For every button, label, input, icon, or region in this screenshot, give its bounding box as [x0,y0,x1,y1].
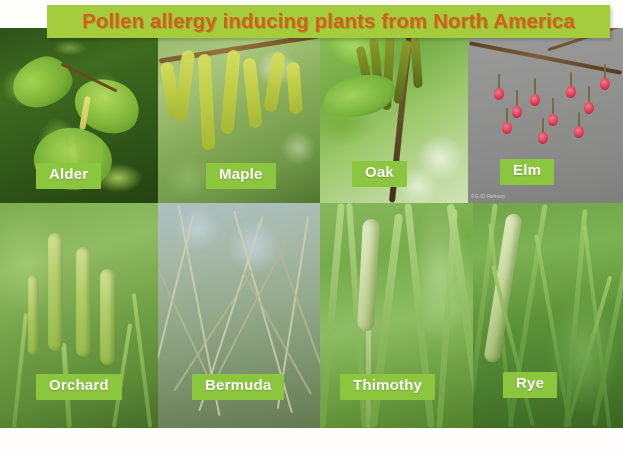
timothy-spike-shape [357,219,380,332]
plant-label-rye: Rye [503,372,557,398]
grass-blade-shape [12,313,28,428]
seed-head-shape [28,275,39,355]
plant-photo-grid: Alder Maple [0,28,623,428]
elm-flower-shape [574,126,584,138]
flower-stalk-shape [552,98,554,114]
seed-head-shape [48,233,63,351]
seed-head-shape [76,247,91,357]
elm-flower-shape [600,78,610,90]
plant-cell-bermuda[interactable]: Bermuda [158,203,320,428]
elm-flower-shape [530,94,540,106]
leaf-shape [6,50,78,114]
bottom-white-strip [0,428,623,455]
catkin-shape [393,40,412,105]
plant-label-oak: Oak [352,161,407,187]
plant-cell-alder[interactable]: Alder [0,28,158,203]
twig-shape [469,41,622,75]
grass-blade-shape [446,204,473,428]
flower-cluster-shape [286,62,303,115]
plant-cell-thimothy[interactable]: Thimothy [320,203,473,428]
elm-flower-shape [538,132,548,144]
plant-cell-orchard[interactable]: Orchard [0,203,158,428]
flower-cluster-shape [220,50,240,135]
catkin-shape [410,36,423,89]
grass-stem-shape [158,216,194,411]
flower-cluster-shape [242,58,262,129]
plant-cell-maple[interactable]: Maple [158,28,320,203]
seed-head-shape [100,269,115,365]
elm-flower-shape [502,122,512,134]
plant-label-maple: Maple [206,163,276,189]
plant-label-elm: Elm [500,159,554,185]
elm-flower-shape [548,114,558,126]
grass-blade-shape [132,293,152,427]
plant-label-thimothy: Thimothy [340,374,435,400]
plant-label-bermuda: Bermuda [192,374,284,400]
flower-cluster-shape [197,54,215,151]
page-title: Pollen allergy inducing plants from Nort… [82,10,575,34]
pollen-allergy-poster: Alder Maple [0,0,623,455]
flower-stalk-shape [516,90,518,106]
plant-cell-rye[interactable]: Rye [473,203,623,428]
elm-flower-shape [566,86,576,98]
elm-flower-shape [494,88,504,100]
plant-label-alder: Alder [36,163,101,189]
flower-stalk-shape [534,78,536,94]
elm-flower-shape [512,106,522,118]
image-watermark: ©G.ID Rehway [471,194,506,200]
flower-cluster-shape [263,51,285,112]
flower-stalk-shape [588,86,590,102]
poster-title-banner: Pollen allergy inducing plants from Nort… [47,5,610,38]
plant-cell-oak[interactable]: Oak [320,28,468,203]
plant-cell-elm[interactable]: ©G.ID Rehway Elm [468,28,623,203]
elm-flower-shape [584,102,594,114]
plant-label-orchard: Orchard [36,374,122,400]
